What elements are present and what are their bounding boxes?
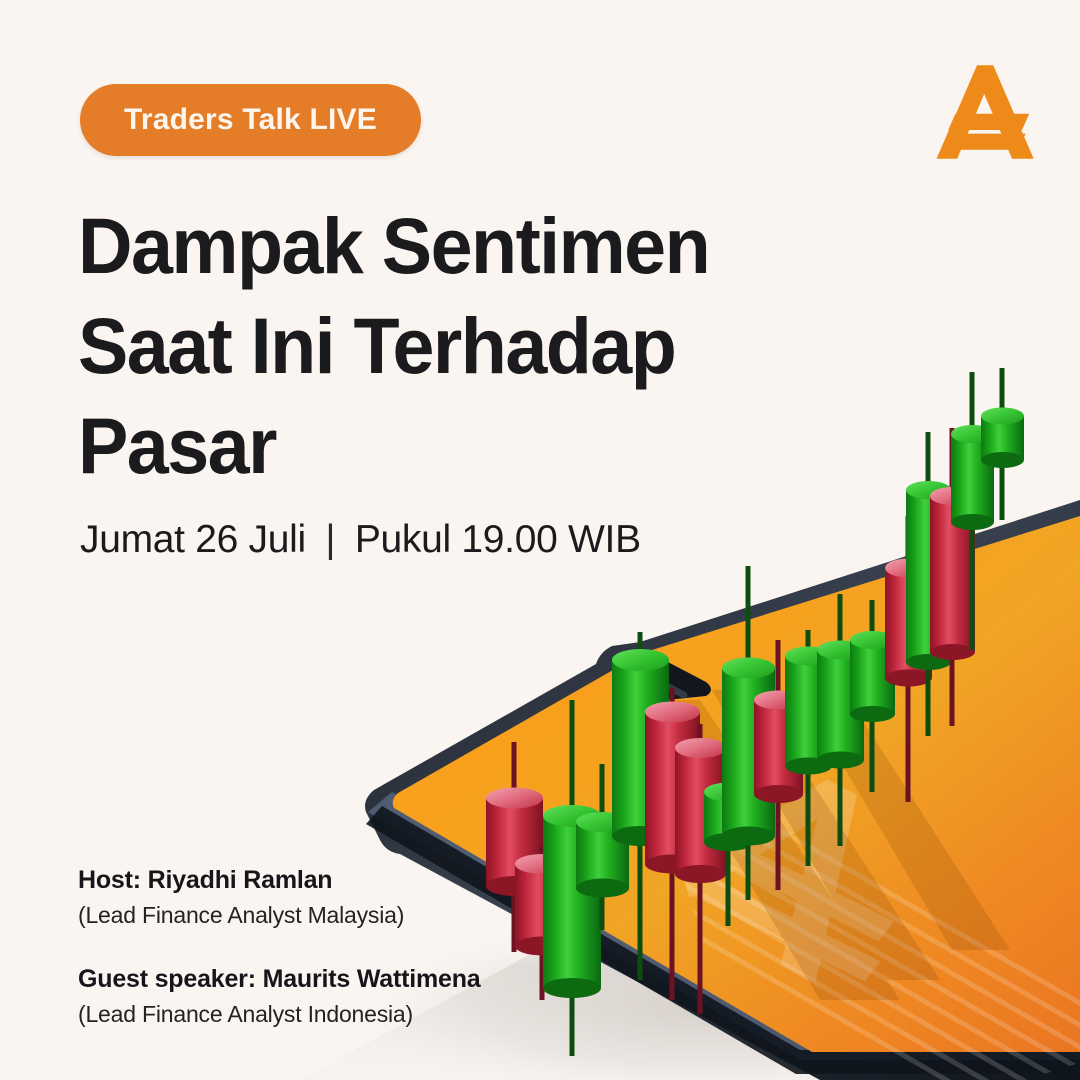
schedule-separator: | [325,518,335,561]
guest-name: Guest speaker: Maurits Wattimena [78,965,481,994]
guest-credit: Guest speaker: Maurits Wattimena (Lead F… [78,965,481,1028]
live-badge-label: Traders Talk LIVE [124,103,377,137]
axi-a-logo-icon [932,58,1040,166]
guest-role: (Lead Finance Analyst Indonesia) [78,1001,481,1028]
host-name: Host: Riyadhi Ramlan [78,866,481,895]
event-time: Pukul 19.00 WIB [355,518,641,561]
event-schedule: Jumat 26 Juli | Pukul 19.00 WIB [80,518,641,562]
speaker-credits: Host: Riyadhi Ramlan (Lead Finance Analy… [78,866,481,1028]
title-line-3: Pasar [78,396,804,496]
live-badge[interactable]: Traders Talk LIVE [80,84,421,156]
page-title: Dampak Sentimen Saat Ini Terhadap Pasar [78,196,804,496]
promo-poster: Traders Talk LIVE Dampak Sentimen Saat I… [0,0,1080,1080]
host-credit: Host: Riyadhi Ramlan (Lead Finance Analy… [78,866,481,929]
event-date: Jumat 26 Juli [80,518,306,561]
host-role: (Lead Finance Analyst Malaysia) [78,902,481,929]
title-line-2: Saat Ini Terhadap [78,296,804,396]
title-line-1: Dampak Sentimen [78,196,804,296]
